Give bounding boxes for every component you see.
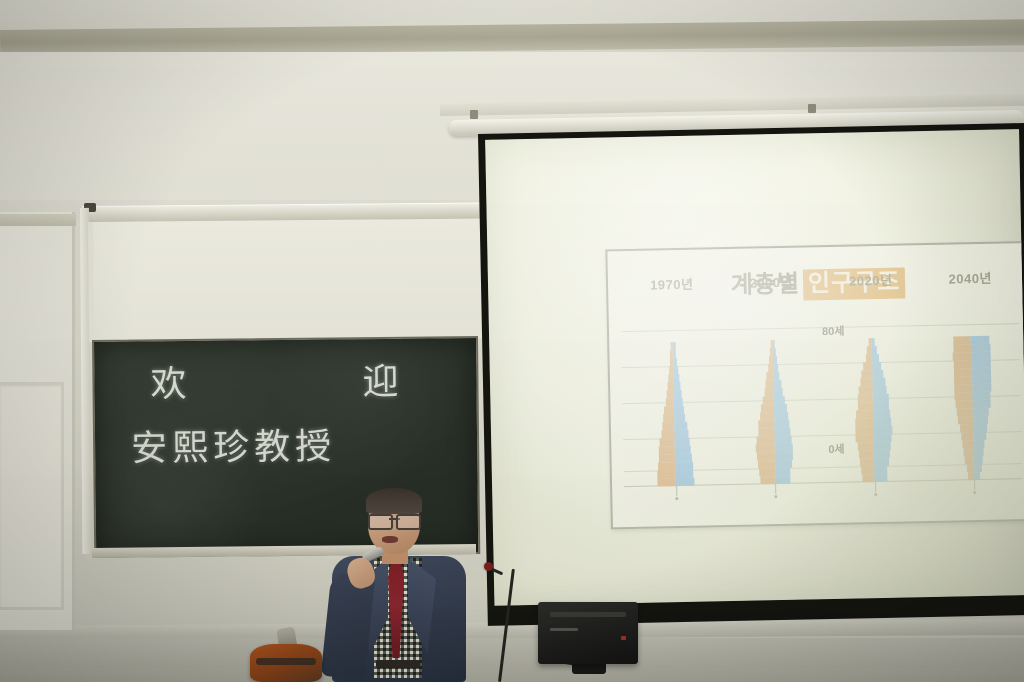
axis-tick-dot bbox=[675, 497, 678, 500]
bar-male bbox=[961, 432, 974, 440]
presenter-belt bbox=[376, 660, 420, 668]
bar-female bbox=[973, 432, 986, 440]
bar-male bbox=[764, 388, 773, 396]
grid-line bbox=[621, 323, 1019, 332]
bar-female bbox=[775, 476, 790, 484]
bar-female bbox=[673, 358, 677, 366]
screen-surface: 계층별인구구조 1970년2000년2020년2040년80세0세 bbox=[485, 129, 1024, 606]
presenter bbox=[318, 488, 498, 682]
bar-female bbox=[772, 356, 776, 364]
bar-female bbox=[773, 380, 781, 388]
bar-female bbox=[871, 362, 881, 370]
axis-tick bbox=[875, 482, 876, 492]
bar-male bbox=[760, 476, 775, 484]
bar-female bbox=[673, 350, 676, 358]
axis-tick-dot bbox=[775, 495, 778, 498]
bar-female bbox=[872, 370, 884, 378]
chart-year-label: 2020년 bbox=[849, 270, 893, 290]
chalk-char-welcome-1: 欢 bbox=[150, 355, 189, 407]
bar-male bbox=[662, 422, 675, 430]
panel-inset bbox=[0, 382, 64, 610]
bar-male bbox=[861, 466, 874, 474]
axis-tick-dot bbox=[874, 493, 877, 496]
population-pyramid-1970년 bbox=[654, 342, 694, 487]
chalk-text-line-2: 安熙珍教授 bbox=[131, 417, 337, 471]
glasses-icon bbox=[368, 514, 421, 526]
projection-screen: 계층별인구구조 1970년2000년2020년2040년80세0세 bbox=[478, 123, 1024, 626]
bar-male bbox=[761, 404, 774, 412]
bar-female bbox=[874, 466, 887, 474]
chalk-char-welcome-2: 迎 bbox=[362, 353, 401, 405]
bar-female bbox=[871, 346, 877, 354]
presentation-slide: 계층별인구구조 1970년2000년2020년2040년80세0세 bbox=[605, 241, 1024, 529]
axis-tick bbox=[676, 486, 677, 496]
bar-female bbox=[673, 342, 676, 350]
population-pyramid-2020년 bbox=[853, 338, 893, 483]
floor bbox=[0, 638, 1024, 682]
axis-tick bbox=[974, 480, 975, 490]
bar-female bbox=[674, 414, 685, 422]
bar-female bbox=[674, 406, 684, 414]
axis-tick-dot bbox=[974, 491, 977, 494]
bar-female bbox=[872, 354, 880, 362]
bar-female bbox=[974, 464, 982, 472]
bar-female bbox=[973, 440, 984, 448]
monitor-power-led bbox=[621, 636, 626, 640]
bar-female bbox=[773, 388, 782, 396]
bar-female bbox=[673, 366, 677, 374]
bar-male bbox=[967, 464, 975, 472]
bar-male bbox=[960, 424, 974, 432]
glasses-lens-left bbox=[368, 514, 393, 530]
bar-female bbox=[774, 404, 787, 412]
monitor-brand-plate bbox=[550, 628, 578, 631]
bar-male bbox=[860, 378, 873, 386]
bar-male bbox=[964, 448, 974, 456]
bar-male bbox=[664, 406, 674, 414]
bar-female bbox=[674, 374, 680, 382]
bar-male bbox=[765, 380, 773, 388]
bar-male bbox=[663, 414, 674, 422]
bar-female bbox=[674, 382, 680, 390]
bar-female bbox=[974, 472, 980, 480]
presentation-monitor bbox=[538, 602, 638, 664]
screen-bracket-right bbox=[808, 104, 816, 113]
bar-female bbox=[974, 456, 983, 464]
chart-year-label: 1970년 bbox=[650, 274, 694, 294]
microphone-icon bbox=[484, 562, 493, 571]
whiteboard bbox=[88, 218, 498, 342]
lecture-hall-photo: 欢 迎 安熙珍教授 계층별인구구조 197 bbox=[0, 0, 1024, 682]
bar-male bbox=[862, 474, 875, 482]
bar-female bbox=[871, 338, 875, 346]
screen-bracket-left bbox=[470, 110, 478, 119]
bar-female bbox=[774, 396, 785, 404]
age-axis-top-label: 80세 bbox=[822, 323, 845, 339]
bar-male bbox=[665, 398, 674, 406]
presenter-hair bbox=[366, 488, 422, 514]
chart-year-label: 2000년 bbox=[749, 272, 793, 292]
presenter-mouth bbox=[382, 536, 398, 543]
bar-male bbox=[861, 370, 872, 378]
panel-rail bbox=[0, 214, 76, 226]
bar-male bbox=[965, 456, 974, 464]
population-pyramid-2000년 bbox=[754, 340, 794, 485]
axis-tick bbox=[775, 484, 776, 494]
bar-male bbox=[863, 362, 871, 370]
bar-female bbox=[675, 422, 688, 430]
glasses-lens-right bbox=[396, 514, 421, 530]
bar-female bbox=[676, 478, 695, 486]
bar-female bbox=[875, 474, 888, 482]
bar-female bbox=[674, 390, 682, 398]
bar-female bbox=[772, 348, 775, 356]
bar-male bbox=[666, 390, 674, 398]
bar-male bbox=[962, 440, 973, 448]
population-pyramid-2040년 bbox=[952, 336, 993, 481]
chalk-text-line-1: 欢 迎 bbox=[150, 353, 401, 408]
age-axis-bottom-label: 0세 bbox=[828, 441, 845, 457]
bar-female bbox=[772, 340, 775, 348]
bar-male bbox=[762, 396, 773, 404]
bar-female bbox=[974, 448, 984, 456]
chart-year-label: 2040년 bbox=[948, 268, 992, 288]
monitor-vent bbox=[550, 612, 626, 617]
bar-female bbox=[674, 398, 683, 406]
bag-strap bbox=[256, 658, 316, 665]
bar-female bbox=[773, 364, 779, 372]
left-wall-panel bbox=[0, 212, 75, 630]
bar-male bbox=[657, 478, 676, 486]
bar-female bbox=[773, 372, 780, 380]
population-pyramid-chart: 1970년2000년2020년2040년80세0세 bbox=[621, 305, 1023, 509]
